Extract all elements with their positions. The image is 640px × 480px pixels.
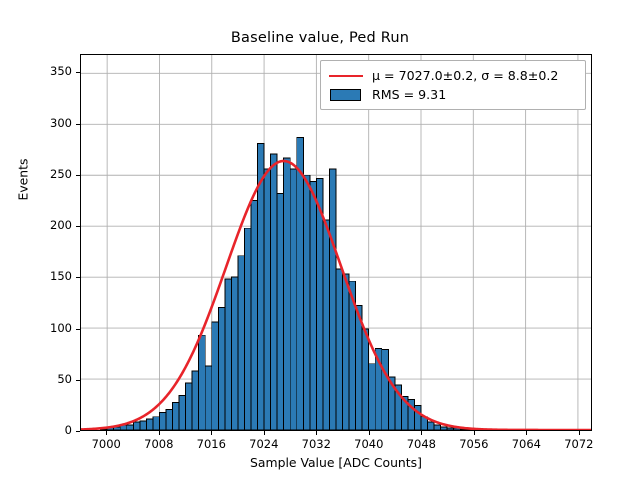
x-tick-mark xyxy=(159,431,160,435)
x-tick-mark xyxy=(264,431,265,435)
x-tick-label: 7032 xyxy=(286,437,346,451)
y-tick-label: 100 xyxy=(12,321,72,335)
legend-label-histogram: RMS = 9.31 xyxy=(372,87,446,102)
figure-canvas: Baseline value, Ped Run Events Sample Va… xyxy=(0,0,640,480)
gaussian-fit-curve xyxy=(81,55,591,430)
y-tick-mark xyxy=(76,431,80,432)
y-tick-label: 300 xyxy=(12,116,72,130)
y-tick-label: 150 xyxy=(12,269,72,283)
x-tick-label: 7048 xyxy=(391,437,451,451)
y-tick-label: 200 xyxy=(12,218,72,232)
legend-box: μ = 7027.0±0.2, σ = 8.8±0.2 RMS = 9.31 xyxy=(320,60,586,110)
legend-patch-key xyxy=(329,88,363,102)
y-axis-label: Events xyxy=(16,0,31,370)
y-tick-label: 350 xyxy=(12,64,72,78)
x-tick-mark xyxy=(474,431,475,435)
x-tick-label: 7016 xyxy=(181,437,241,451)
y-tick-label: 250 xyxy=(12,167,72,181)
x-tick-mark xyxy=(106,431,107,435)
legend-label-fit: μ = 7027.0±0.2, σ = 8.8±0.2 xyxy=(372,68,558,83)
x-tick-mark xyxy=(421,431,422,435)
x-tick-mark xyxy=(369,431,370,435)
x-tick-label: 7040 xyxy=(339,437,399,451)
x-tick-label: 7064 xyxy=(496,437,556,451)
x-tick-label: 7000 xyxy=(76,437,136,451)
x-tick-label: 7008 xyxy=(129,437,189,451)
x-tick-mark xyxy=(526,431,527,435)
y-tick-label: 0 xyxy=(12,423,72,437)
legend-line-key xyxy=(329,69,363,83)
legend-entry-histogram: RMS = 9.31 xyxy=(329,85,577,104)
x-tick-label: 7056 xyxy=(444,437,504,451)
x-tick-mark xyxy=(211,431,212,435)
y-tick-label: 50 xyxy=(12,372,72,386)
chart-title: Baseline value, Ped Run xyxy=(0,30,640,46)
x-tick-mark xyxy=(316,431,317,435)
x-tick-label: 7024 xyxy=(234,437,294,451)
x-tick-label: 7072 xyxy=(549,437,609,451)
x-tick-mark xyxy=(579,431,580,435)
legend-entry-fit: μ = 7027.0±0.2, σ = 8.8±0.2 xyxy=(329,66,577,85)
plot-area xyxy=(80,54,592,431)
x-axis-label: Sample Value [ADC Counts] xyxy=(80,455,592,470)
